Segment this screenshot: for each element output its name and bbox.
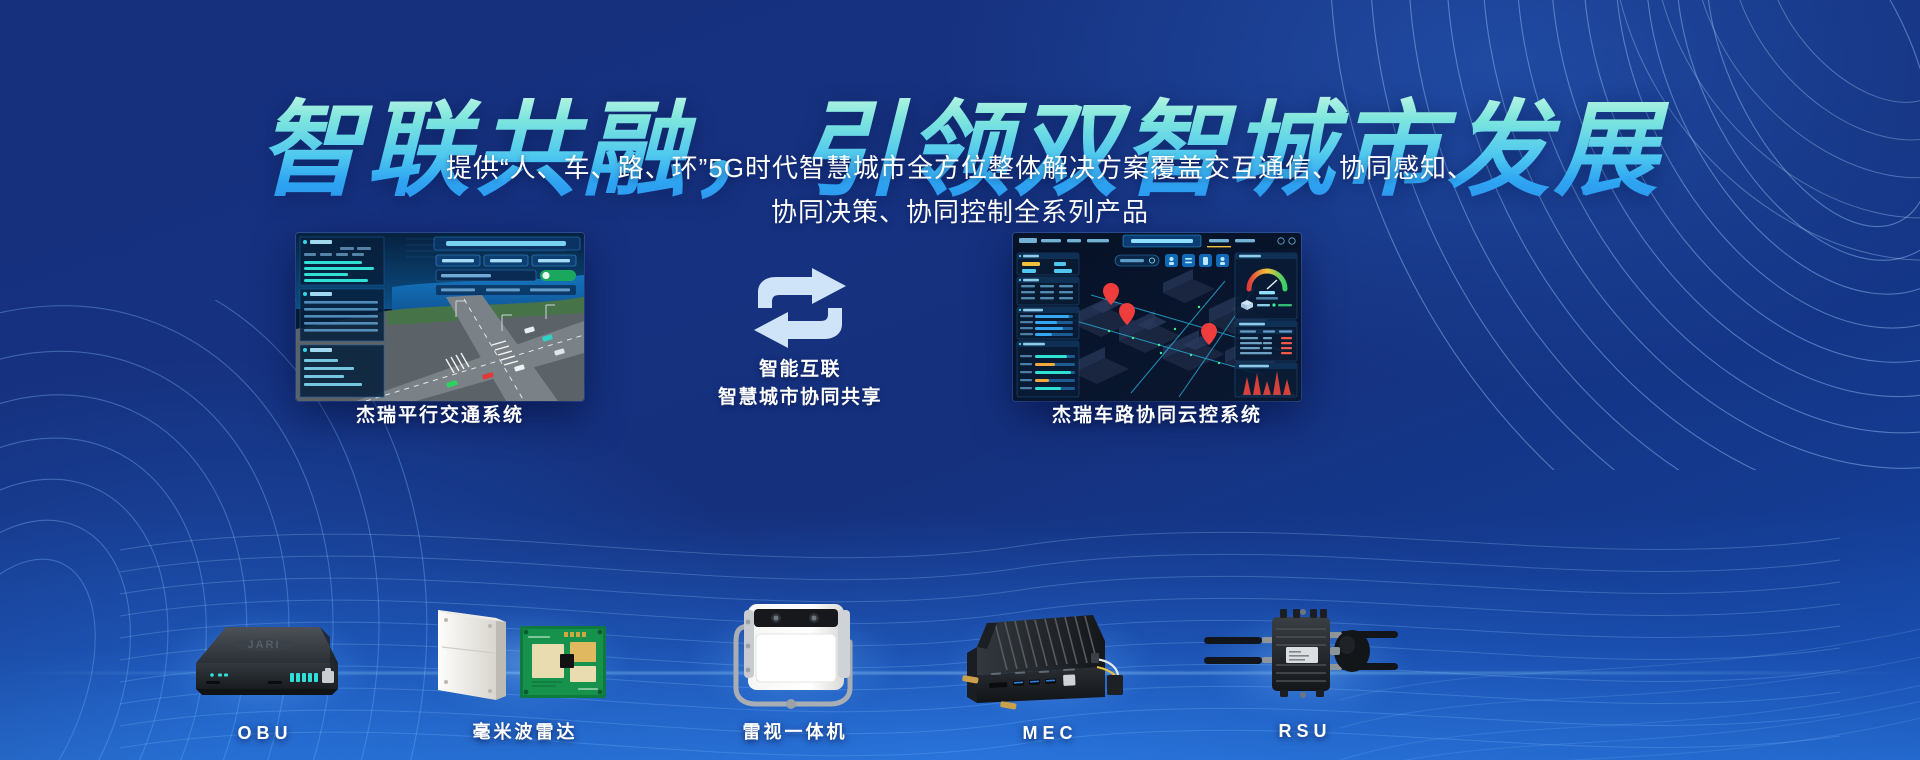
obu-device-art: JARI [160,597,370,717]
rsu-device-art [1200,595,1410,715]
promo-banner: 智联共融，引领双智城市发展 提供“人、车、路、环”5G时代智慧城市全方位整体解决… [0,0,1920,760]
product-name: RSU [1200,721,1410,742]
product-item-obu[interactable]: JARI OBU [160,597,370,744]
product-item-radar-vision[interactable]: 雷视一体机 [690,592,900,744]
product-item-mmwave-radar[interactable]: 毫米波雷达 [420,592,630,744]
product-item-rsu[interactable]: RSU [1200,595,1410,742]
mmwave-radar-device-art [420,592,630,712]
subtitle-line-1: 提供“人、车、路、环”5G时代智慧城市全方位整体解决方案覆盖交互通信、协同感知、 [0,146,1920,190]
product-name: 毫米波雷达 [420,718,630,744]
center-text-line-1: 智能互联 [660,356,940,384]
right-panel-caption: 杰瑞车路协同云控系统 [1013,400,1301,427]
product-name: OBU [160,723,370,744]
mec-device-art [945,597,1155,717]
product-item-mec[interactable]: MEC [945,597,1155,744]
center-exchange-block: 智能互联 智慧城市协同共享 [660,268,940,412]
subtitle-line-2: 协同决策、协同控制全系列产品 [0,190,1920,234]
center-text-line-2: 智慧城市协同共享 [660,384,940,412]
right-dashboard-screenshot[interactable] [1013,233,1301,401]
radar-vision-device-art [690,592,900,712]
svg-text:JARI: JARI [247,639,280,651]
wave-lines-top-right-decoration [1260,0,1920,470]
exchange-arrows-icon [750,268,850,348]
product-name: 雷视一体机 [690,718,900,744]
product-name: MEC [945,723,1155,744]
product-lineup: JARI OBU [0,554,1920,744]
page-subtitle: 提供“人、车、路、环”5G时代智慧城市全方位整体解决方案覆盖交互通信、协同感知、… [0,146,1920,234]
left-dashboard-screenshot[interactable] [296,233,584,401]
center-exchange-text: 智能互联 智慧城市协同共享 [660,356,940,412]
left-panel-caption: 杰瑞平行交通系统 [296,400,584,427]
